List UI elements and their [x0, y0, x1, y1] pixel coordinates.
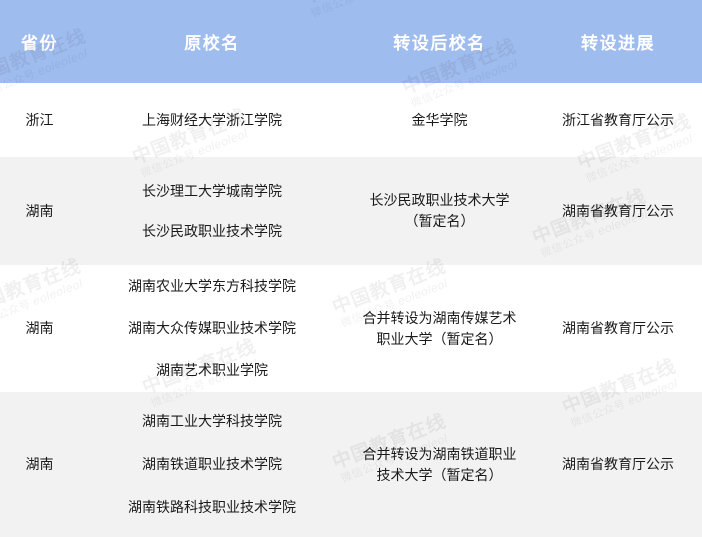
new-name-line: 合并转设为湖南传媒艺术	[349, 309, 530, 328]
new-name-line: （暂定名）	[349, 212, 530, 231]
old-name-item: 湖南工业大学科技学院	[83, 412, 341, 431]
new-name-lines: 合并转设为湖南传媒艺术 职业大学（暂定名）	[349, 309, 530, 349]
table-row: 浙江 上海财经大学浙江学院 金华学院 浙江省教育厅公示	[0, 83, 702, 157]
cell-new-name: 合并转设为湖南铁道职业 技术大学（暂定名）	[345, 392, 534, 537]
cell-progress: 湖南省教育厅公示	[534, 157, 702, 265]
table-body: 浙江 上海财经大学浙江学院 金华学院 浙江省教育厅公示 湖南 长沙	[0, 83, 702, 537]
column-header-new-name: 转设后校名	[345, 0, 534, 83]
new-name-line: 合并转设为湖南铁道职业	[349, 445, 530, 464]
cell-new-name: 长沙民政职业技术大学 （暂定名）	[345, 157, 534, 265]
column-header-progress: 转设进展	[534, 0, 702, 83]
old-name-item: 长沙民政职业技术学院	[83, 222, 341, 241]
cell-province: 湖南	[0, 157, 79, 265]
table-header: 省份 原校名 转设后校名 转设进展	[0, 0, 702, 83]
new-name-lines: 长沙民政职业技术大学 （暂定名）	[349, 191, 530, 231]
cell-progress: 湖南省教育厅公示	[534, 392, 702, 537]
cell-progress: 浙江省教育厅公示	[534, 83, 702, 157]
old-name-list: 上海财经大学浙江学院	[83, 111, 341, 130]
cell-old-name: 上海财经大学浙江学院	[79, 83, 345, 157]
old-name-list: 湖南工业大学科技学院 湖南铁道职业技术学院 湖南铁路科技职业技术学院	[83, 412, 341, 517]
old-name-item: 长沙理工大学城南学院	[83, 182, 341, 201]
table-row: 湖南 长沙理工大学城南学院 长沙民政职业技术学院 长沙民政职业技术大学 （暂定名…	[0, 157, 702, 265]
cell-old-name: 长沙理工大学城南学院 长沙民政职业技术学院	[79, 157, 345, 265]
new-name-line: 技术大学（暂定名）	[349, 466, 530, 485]
cell-province: 湖南	[0, 265, 79, 392]
table-header-row: 省份 原校名 转设后校名 转设进展	[0, 0, 702, 83]
cell-progress: 湖南省教育厅公示	[534, 265, 702, 392]
table-row: 湖南 湖南工业大学科技学院 湖南铁道职业技术学院 湖南铁路科技职业技术学院 合并…	[0, 392, 702, 537]
cell-province: 湖南	[0, 392, 79, 537]
old-name-item: 上海财经大学浙江学院	[83, 111, 341, 130]
old-name-item: 湖南艺术职业学院	[83, 361, 341, 380]
old-name-list: 湖南农业大学东方科技学院 湖南大众传媒职业技术学院 湖南艺术职业学院	[83, 277, 341, 380]
old-name-item: 湖南铁路科技职业技术学院	[83, 498, 341, 517]
new-name-line: 长沙民政职业技术大学	[349, 191, 530, 210]
cell-old-name: 湖南农业大学东方科技学院 湖南大众传媒职业技术学院 湖南艺术职业学院	[79, 265, 345, 392]
old-name-item: 湖南铁道职业技术学院	[83, 455, 341, 474]
cell-old-name: 湖南工业大学科技学院 湖南铁道职业技术学院 湖南铁路科技职业技术学院	[79, 392, 345, 537]
cell-province: 浙江	[0, 83, 79, 157]
new-name-lines: 金华学院	[349, 111, 530, 130]
cell-new-name: 金华学院	[345, 83, 534, 157]
column-header-province: 省份	[0, 0, 79, 83]
cell-new-name: 合并转设为湖南传媒艺术 职业大学（暂定名）	[345, 265, 534, 392]
old-name-list: 长沙理工大学城南学院 长沙民政职业技术学院	[83, 182, 341, 241]
table-row: 湖南 湖南农业大学东方科技学院 湖南大众传媒职业技术学院 湖南艺术职业学院 合并…	[0, 265, 702, 392]
transfer-schools-table: 省份 原校名 转设后校名 转设进展 浙江 上海财经大学浙江学院 金华学院	[0, 0, 702, 537]
old-name-item: 湖南农业大学东方科技学院	[83, 277, 341, 296]
old-name-item: 湖南大众传媒职业技术学院	[83, 319, 341, 338]
transfer-schools-table-container: 中国教育在线 微信公众号 eoleoleol 中国教育在线 微信公众号 eole…	[0, 0, 702, 537]
new-name-line: 金华学院	[349, 111, 530, 130]
new-name-lines: 合并转设为湖南铁道职业 技术大学（暂定名）	[349, 445, 530, 485]
column-header-old-name: 原校名	[79, 0, 345, 83]
new-name-line: 职业大学（暂定名）	[349, 330, 530, 349]
